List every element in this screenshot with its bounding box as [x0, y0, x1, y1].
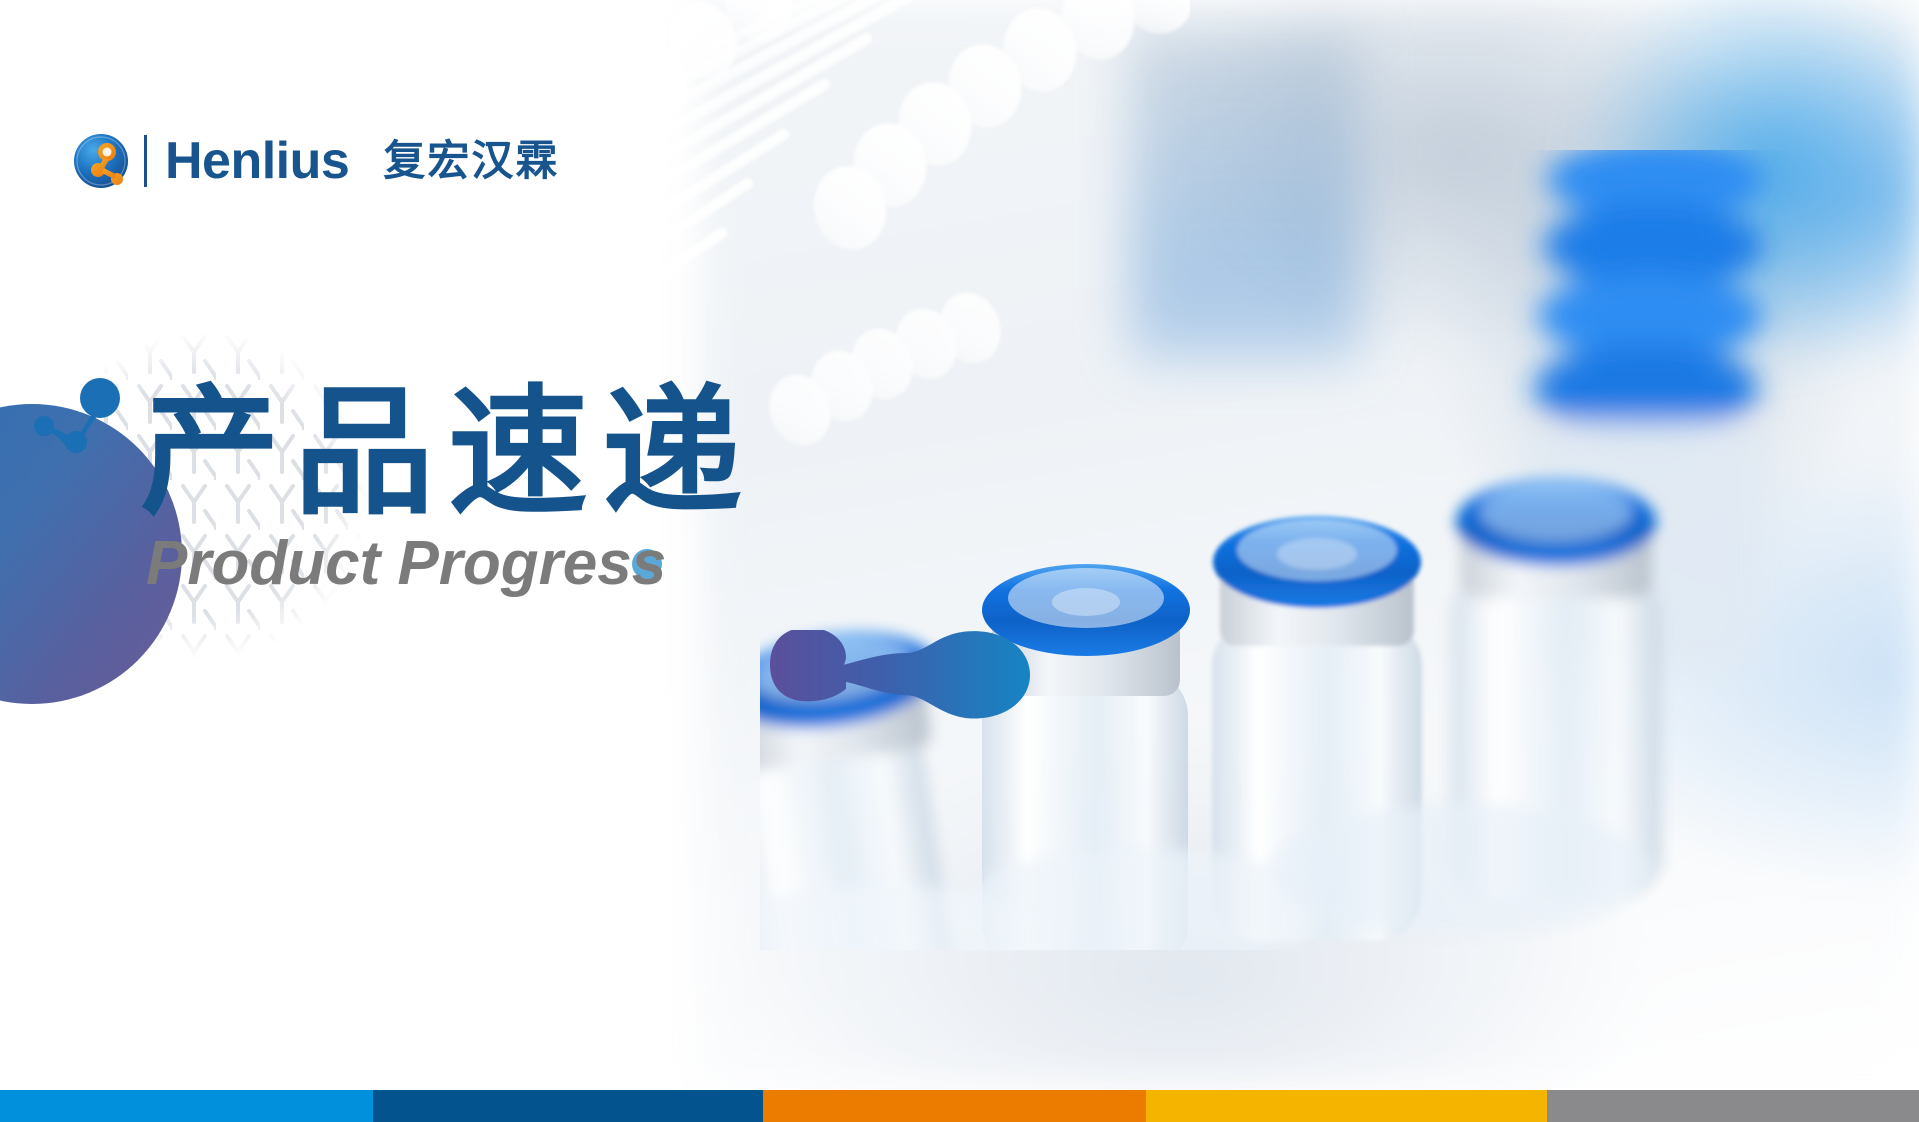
- segment-dark-blue: [373, 1090, 763, 1122]
- segment-orange: [763, 1090, 1146, 1122]
- segment-gray: [1547, 1090, 1919, 1122]
- logo-wordmark: Henlius: [165, 135, 349, 187]
- logo-chinese-name: 复宏汉霖: [383, 140, 559, 182]
- brand-logo: Henlius 复宏汉霖: [72, 125, 559, 197]
- vial-photo: [760, 150, 1919, 950]
- henlius-logo-mark: [72, 132, 130, 190]
- page-subtitle-english: Product Progress: [146, 528, 666, 599]
- molecule-metaball: [766, 630, 1056, 740]
- logo-divider: [144, 135, 147, 187]
- segment-light-blue: [0, 1090, 373, 1122]
- molecule-icon-top: [22, 376, 132, 466]
- segment-amber: [1146, 1090, 1547, 1122]
- page-title-chinese: 产品速递: [140, 376, 756, 530]
- presentation-slide: Henlius 复宏汉霖 产品速递 Product Progress: [0, 0, 1919, 1122]
- bottom-color-bar: [0, 1090, 1919, 1122]
